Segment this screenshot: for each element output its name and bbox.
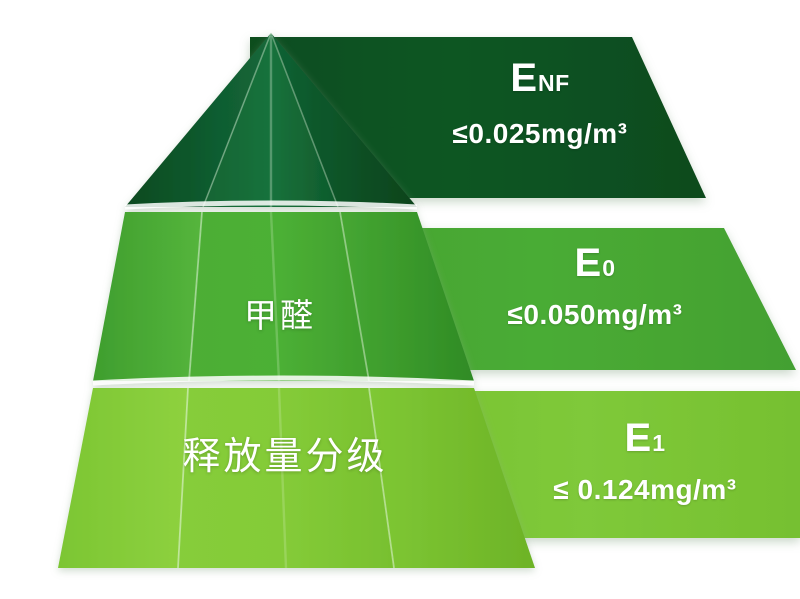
grade-letter-enf: E: [510, 56, 538, 100]
grade-label-enf: ENF: [390, 58, 690, 98]
grade-sub-e0: 0: [602, 255, 615, 281]
grade-label-e1: E1: [500, 418, 790, 458]
banner-enf-text-group: ENF ≤0.025mg/m³: [390, 58, 690, 148]
grade-value-enf-text: ≤0.025mg/m³: [453, 118, 628, 149]
banner-e1-text-group: E1 ≤ 0.124mg/m³: [500, 418, 790, 504]
grade-sub-e1: 1: [652, 430, 665, 456]
grade-sub-enf: NF: [538, 70, 570, 96]
grade-value-e1: ≤ 0.124mg/m³: [500, 476, 790, 504]
grade-label-e0: E0: [450, 243, 740, 283]
grade-value-e0-text: ≤0.050mg/m³: [508, 299, 683, 330]
tier-divider-bottom: [93, 378, 474, 383]
pyramid-label-emission-grading: 释放量分级: [125, 425, 445, 480]
pyramid-label-formaldehyde: 甲醛: [180, 289, 380, 337]
banner-e0-text-group: E0 ≤0.050mg/m³: [450, 243, 740, 329]
grade-value-e0: ≤0.050mg/m³: [450, 301, 740, 329]
grade-letter-e1: E: [625, 416, 653, 460]
grade-value-enf: ≤0.025mg/m³: [390, 120, 690, 148]
grade-letter-e0: E: [575, 241, 603, 285]
pyramid-infographic: ENF ≤0.025mg/m³ E0 ≤0.050mg/m³ E1 ≤ 0.12…: [0, 0, 800, 599]
grade-value-e1-text: ≤ 0.124mg/m³: [553, 474, 736, 505]
